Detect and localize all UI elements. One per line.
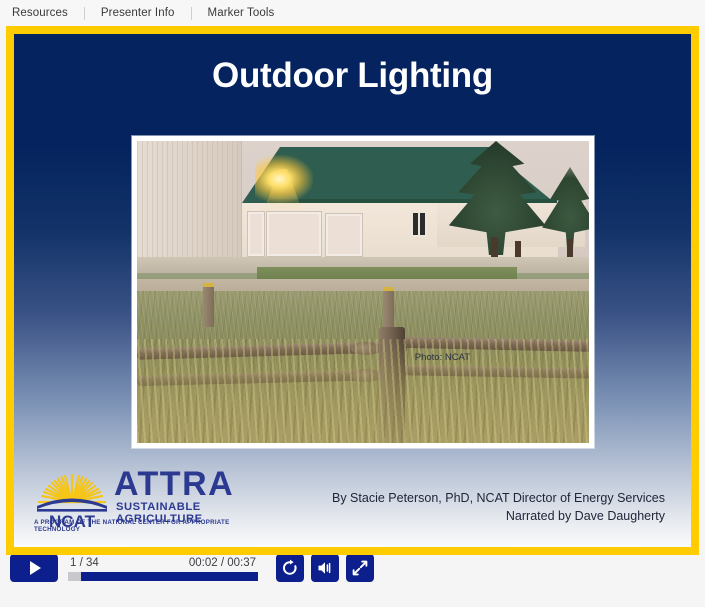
slide-stage: Outdoor Lighting (0, 26, 705, 529)
time-display: 00:02 / 00:37 (189, 557, 256, 569)
nav-divider (84, 7, 85, 20)
nav-resources[interactable]: Resources (10, 0, 82, 26)
photo-fence-post-far (383, 287, 394, 331)
volume-button[interactable] (311, 554, 339, 582)
credit-author: By Stacie Peterson, PhD, NCAT Director o… (332, 489, 665, 507)
photo-garage-door-2 (266, 211, 322, 257)
volume-icon (316, 559, 334, 577)
replay-button[interactable] (276, 554, 304, 582)
seek-handle[interactable] (68, 572, 81, 581)
slide-counter: 1 / 34 (70, 557, 99, 569)
photo-garage-door-3 (325, 213, 363, 257)
attra-ncat-logo: NCAT ATTRA SUSTAINABLE AGRICULTURE A PRO… (32, 467, 276, 537)
seek-labels: 1 / 34 00:02 / 00:37 (68, 557, 258, 569)
slide-credits: By Stacie Peterson, PhD, NCAT Director o… (332, 489, 665, 525)
slide-yellow-border: Outdoor Lighting (6, 26, 699, 555)
nav-marker-tools[interactable]: Marker Tools (206, 0, 289, 26)
nav-presenter-info[interactable]: Presenter Info (99, 0, 189, 26)
slide-photo-frame (132, 136, 594, 448)
photo-fence-post-far (203, 283, 214, 327)
seek-bar[interactable] (68, 572, 258, 581)
photo-garage-door-1 (247, 211, 265, 257)
photo-credit: Photo: NCAT (14, 352, 476, 363)
secondary-controls (276, 554, 374, 582)
seek-area: 1 / 34 00:02 / 00:37 (68, 555, 258, 581)
play-icon (30, 561, 41, 575)
attra-program-footer: A PROGRAM OF THE NATIONAL CENTER FOR APP… (34, 519, 276, 533)
photo-fence-post-cap (203, 283, 214, 287)
slide-photo (137, 141, 589, 443)
photo-fence-post-cap (383, 287, 394, 291)
slide-canvas: Outdoor Lighting (14, 34, 691, 547)
page-title: Outdoor Lighting (14, 56, 691, 96)
photo-window-mullion (418, 211, 420, 237)
top-navigation-bar: Resources Presenter Info Marker Tools (0, 0, 705, 26)
attra-wordmark: ATTRA (114, 467, 234, 501)
photo-yard-light-glow (255, 155, 313, 203)
fullscreen-button[interactable] (346, 554, 374, 582)
presentation-player: Resources Presenter Info Marker Tools Ou… (0, 0, 705, 607)
fullscreen-icon (351, 559, 369, 577)
nav-divider (191, 7, 192, 20)
credit-narrator: Narrated by Dave Daugherty (332, 507, 665, 525)
replay-icon (281, 559, 299, 577)
play-button[interactable] (10, 554, 58, 582)
